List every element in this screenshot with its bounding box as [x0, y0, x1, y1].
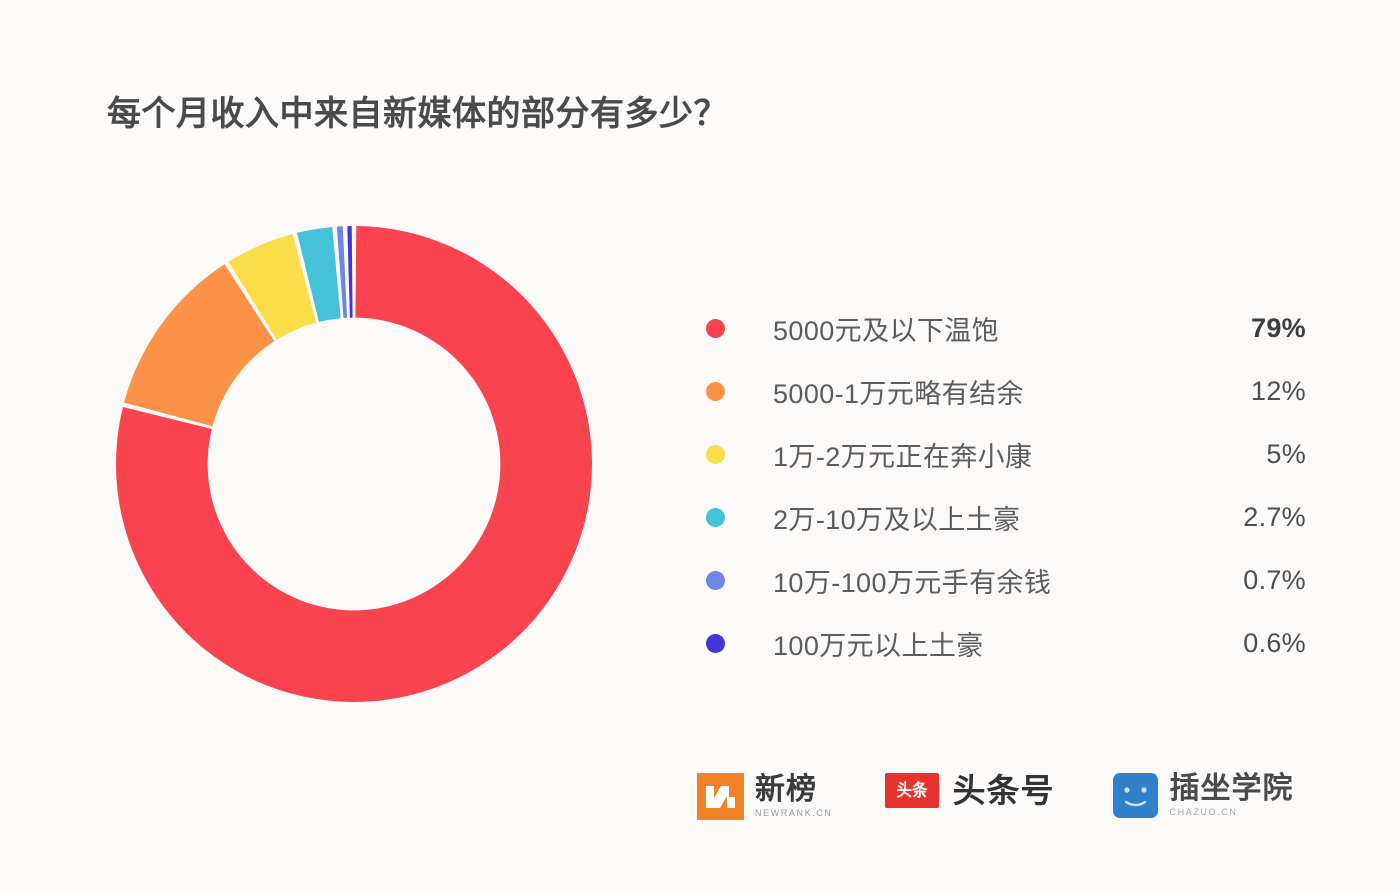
legend-item-value: 2.7%: [1196, 502, 1306, 533]
legend-item-label: 10万-100万元手有余钱: [773, 561, 1051, 600]
legend-item-label: 2万-10万及以上土豪: [773, 498, 1020, 537]
legend-item-value: 0.7%: [1196, 565, 1306, 596]
legend-item-label: 5000-1万元略有结余: [773, 372, 1024, 411]
legend-color-swatch-icon: [706, 319, 725, 338]
donut-chart-svg: [112, 222, 596, 706]
legend-item-label: 1万-2万元正在奔小康: [773, 435, 1032, 474]
legend-item[interactable]: 5000元及以下温饱79%: [706, 297, 1306, 360]
donut-slice[interactable]: [347, 226, 352, 318]
toutiao-badge-text: 头条: [896, 782, 927, 799]
legend-color-swatch-icon: [706, 508, 725, 527]
logo-name-cn: 头条号: [953, 774, 1055, 807]
logo-name-cn: 新榜: [755, 775, 833, 806]
legend-item[interactable]: 2万-10万及以上土豪2.7%: [706, 486, 1306, 549]
chazuo-face-icon: [1113, 773, 1158, 818]
logo-newrank: 新榜 NEWRANK.CN: [697, 773, 833, 820]
legend-color-swatch-icon: [706, 634, 725, 653]
legend-item-value: 79%: [1196, 313, 1306, 344]
logo-name-en: NEWRANK.CN: [755, 808, 833, 818]
legend-item[interactable]: 1万-2万元正在奔小康5%: [706, 423, 1306, 486]
donut-chart: [112, 222, 596, 706]
legend-item-label: 100万元以上土豪: [773, 624, 984, 663]
legend-item-value: 0.6%: [1196, 628, 1306, 659]
newrank-n-icon: [697, 773, 744, 820]
legend-item[interactable]: 100万元以上土豪0.6%: [706, 612, 1306, 675]
chart-legend: 5000元及以下温饱79%5000-1万元略有结余12%1万-2万元正在奔小康5…: [706, 297, 1306, 675]
toutiao-badge-icon: 头条: [885, 773, 939, 808]
legend-color-swatch-icon: [706, 445, 725, 464]
logo-name-en: CHAZUO.CN: [1170, 807, 1294, 817]
chazuo-wordmark: 插坐学院 CHAZUO.CN: [1170, 774, 1294, 818]
legend-color-swatch-icon: [706, 571, 725, 590]
logo-chazuo: 插坐学院 CHAZUO.CN: [1113, 773, 1294, 818]
newrank-wordmark: 新榜 NEWRANK.CN: [755, 775, 833, 819]
legend-color-swatch-icon: [706, 382, 725, 401]
footer-logos: 新榜 NEWRANK.CN 头条 头条号 插坐学院 CHAZUO.CN: [697, 773, 1294, 820]
logo-toutiao: 头条 头条号: [885, 773, 1055, 808]
page-title: 每个月收入中来自新媒体的部分有多少？: [107, 86, 728, 135]
legend-item-label: 5000元及以下温饱: [773, 309, 999, 348]
legend-item[interactable]: 10万-100万元手有余钱0.7%: [706, 549, 1306, 612]
legend-item-value: 5%: [1196, 439, 1306, 470]
legend-item[interactable]: 5000-1万元略有结余12%: [706, 360, 1306, 423]
donut-slice-group: [116, 226, 592, 702]
logo-name-cn: 插坐学院: [1170, 774, 1294, 805]
legend-item-value: 12%: [1196, 376, 1306, 407]
